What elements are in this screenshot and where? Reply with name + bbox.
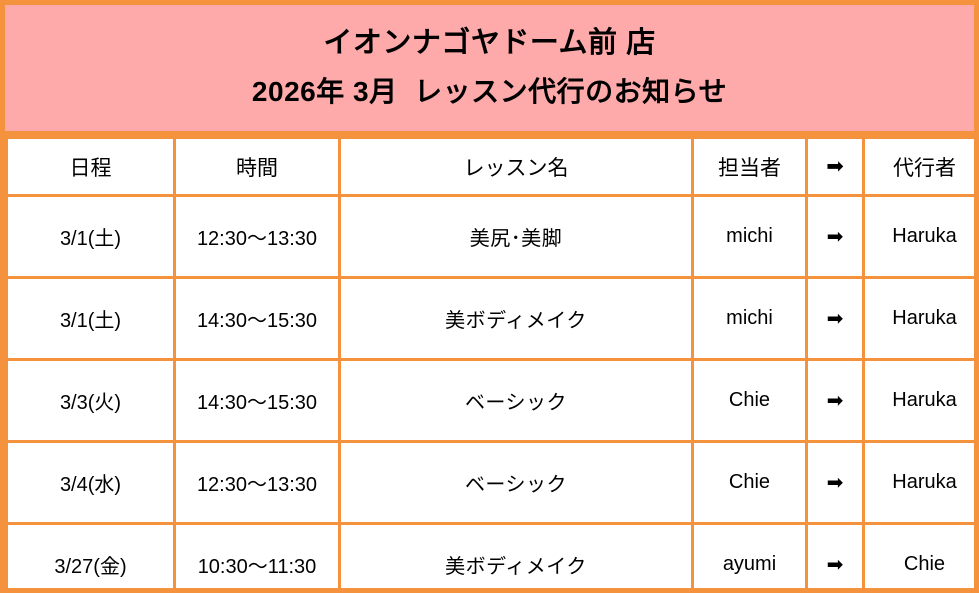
cell-lesson: ベーシック	[340, 442, 693, 524]
column-header-substitute: 代行者	[864, 138, 979, 196]
cell-staff: michi	[693, 196, 807, 278]
cell-lesson: 美ボディメイク	[340, 278, 693, 360]
cell-date: 3/4(水)	[7, 442, 175, 524]
cell-time: 12:30〜13:30	[175, 196, 340, 278]
arrow-right-icon: ➡	[807, 278, 864, 360]
arrow-right-icon: ➡	[807, 360, 864, 442]
cell-time: 10:30〜11:30	[175, 524, 340, 593]
cell-substitute: Haruka	[864, 196, 979, 278]
table-row: 3/27(金) 10:30〜11:30 美ボディメイク ayumi ➡ Chie	[7, 524, 979, 593]
cell-substitute: Haruka	[864, 278, 979, 360]
cell-date: 3/1(土)	[7, 196, 175, 278]
cell-staff: Chie	[693, 442, 807, 524]
cell-staff: michi	[693, 278, 807, 360]
notice-title: 2026年 3月 レッスン代行のお知らせ	[252, 77, 727, 108]
table-row: 3/3(火) 14:30〜15:30 ベーシック Chie ➡ Haruka	[7, 360, 979, 442]
column-header-lesson: レッスン名	[340, 138, 693, 196]
cell-staff: ayumi	[693, 524, 807, 593]
arrow-right-icon: ➡	[807, 524, 864, 593]
cell-lesson: 美尻･美脚	[340, 196, 693, 278]
cell-time: 12:30〜13:30	[175, 442, 340, 524]
notice-banner: イオンナゴヤドーム前 店 2026年 3月 レッスン代行のお知らせ	[5, 5, 974, 136]
table-header-row: 日程 時間 レッスン名 担当者 ➡ 代行者	[7, 138, 979, 196]
table-row: 3/1(土) 12:30〜13:30 美尻･美脚 michi ➡ Haruka	[7, 196, 979, 278]
cell-date: 3/1(土)	[7, 278, 175, 360]
schedule-table: 日程 時間 レッスン名 担当者 ➡ 代行者 3/1(土) 12:30〜13:30…	[5, 136, 979, 593]
table-row: 3/4(水) 12:30〜13:30 ベーシック Chie ➡ Haruka	[7, 442, 979, 524]
store-name-title: イオンナゴヤドーム前 店	[323, 28, 655, 60]
cell-staff: Chie	[693, 360, 807, 442]
arrow-right-icon: ➡	[807, 442, 864, 524]
cell-lesson: ベーシック	[340, 360, 693, 442]
cell-time: 14:30〜15:30	[175, 360, 340, 442]
schedule-table-body: 3/1(土) 12:30〜13:30 美尻･美脚 michi ➡ Haruka …	[7, 196, 979, 593]
schedule-table-wrapper: 日程 時間 レッスン名 担当者 ➡ 代行者 3/1(土) 12:30〜13:30…	[5, 136, 974, 593]
cell-date: 3/27(金)	[7, 524, 175, 593]
arrow-right-icon: ➡	[807, 196, 864, 278]
table-row: 3/1(土) 14:30〜15:30 美ボディメイク michi ➡ Haruk…	[7, 278, 979, 360]
column-header-staff: 担当者	[693, 138, 807, 196]
cell-lesson: 美ボディメイク	[340, 524, 693, 593]
column-header-time: 時間	[175, 138, 340, 196]
cell-substitute: Chie	[864, 524, 979, 593]
lesson-substitution-notice: イオンナゴヤドーム前 店 2026年 3月 レッスン代行のお知らせ 日程 時間 …	[0, 0, 979, 593]
cell-substitute: Haruka	[864, 442, 979, 524]
column-header-arrow-icon: ➡	[807, 138, 864, 196]
column-header-date: 日程	[7, 138, 175, 196]
cell-substitute: Haruka	[864, 360, 979, 442]
cell-date: 3/3(火)	[7, 360, 175, 442]
cell-time: 14:30〜15:30	[175, 278, 340, 360]
